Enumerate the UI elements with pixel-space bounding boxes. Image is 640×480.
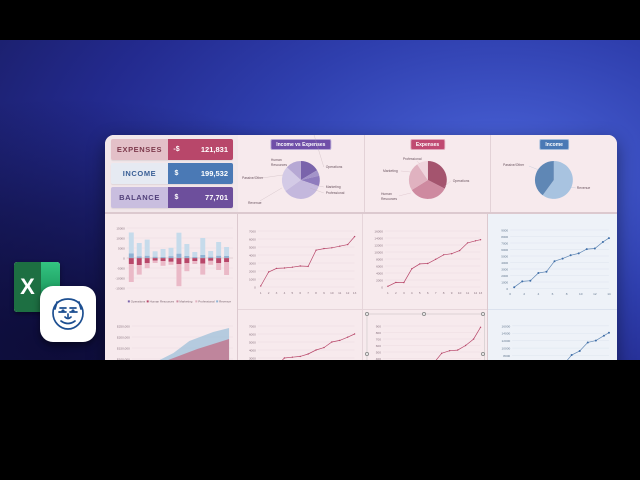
chart-human-resources-line[interactable]: Human Resources 7000600 [238,214,363,309]
svg-text:0: 0 [123,256,125,260]
svg-text:Marketing: Marketing [179,299,192,303]
svg-text:$150,000: $150,000 [117,346,130,350]
svg-text:1000: 1000 [501,281,508,285]
svg-text:8: 8 [442,291,444,295]
svg-text:16000: 16000 [374,229,383,233]
svg-text:1000: 1000 [249,277,256,281]
svg-text:14: 14 [607,292,611,296]
svg-text:10: 10 [579,292,583,296]
svg-text:1: 1 [387,291,389,295]
kpi-value-balance: 77,701 [185,187,233,208]
chart-revenue-line[interactable]: Revenue 1600014000 [488,309,617,360]
svg-text:2: 2 [268,291,270,295]
svg-text:5: 5 [418,291,420,295]
svg-text:-10000: -10000 [115,276,125,280]
svg-text:2000: 2000 [501,274,508,278]
svg-text:500: 500 [375,350,380,354]
kpi-sign-income: $ [168,163,185,184]
chart-overview-bars[interactable]: Overview 1500010000 50000 [105,214,237,309]
svg-text:10000: 10000 [374,250,383,254]
svg-text:0: 0 [254,285,256,289]
svg-text:14000: 14000 [374,236,383,240]
svg-text:3000: 3000 [249,261,256,265]
svg-text:2: 2 [395,291,397,295]
svg-text:-5000: -5000 [117,266,125,270]
svg-text:15000: 15000 [116,226,125,230]
svg-text:3000: 3000 [249,356,256,360]
svg-text:12: 12 [346,291,350,295]
kpi-row-income[interactable]: INCOME $ 199,532 [111,163,233,184]
svg-text:Human: Human [271,158,282,162]
kpi-value-income: 199,532 [185,163,233,184]
svg-text:Revenue: Revenue [248,201,262,205]
svg-text:8000: 8000 [503,354,510,358]
svg-text:0: 0 [509,292,511,296]
svg-text:Professional: Professional [326,191,345,195]
chart-cumulative-area[interactable]: Cumulative $250,000$200,000 $150,000$100… [105,309,237,360]
svg-text:4000: 4000 [249,348,256,352]
svg-text:7000: 7000 [501,242,508,246]
svg-text:7: 7 [434,291,436,295]
svg-text:Revenue: Revenue [577,186,591,190]
svg-text:16000: 16000 [502,324,511,328]
tiger-logo-icon [40,286,96,342]
selection-handle-top-left[interactable] [365,312,369,316]
app-icon-group: X [14,258,106,346]
svg-text:4: 4 [284,291,286,295]
svg-text:800: 800 [375,331,380,335]
svg-text:11: 11 [338,291,341,295]
svg-text:5000: 5000 [249,245,256,249]
kpi-row-expenses[interactable]: EXPENSES -$ 121,831 [111,139,233,160]
svg-text:13: 13 [353,291,357,295]
svg-text:7000: 7000 [249,324,256,328]
selection-handle-top-right[interactable] [481,312,485,316]
svg-text:8: 8 [315,291,317,295]
left-chart-column: Overview 1500010000 50000 [105,214,238,360]
middle-chart-column: Human Resources 7000600 [238,214,488,360]
kpi-label-income: INCOME [111,163,168,184]
svg-text:0: 0 [506,287,508,291]
svg-text:Professional: Professional [198,299,215,303]
svg-text:900: 900 [375,324,380,328]
excel-dashboard[interactable]: EXPENSES -$ 121,831 INCOME $ 199,532 BAL… [105,135,617,360]
chart-expenses-pie[interactable]: Expenses Operations Human Resources [364,135,491,212]
svg-text:10000: 10000 [116,236,125,240]
right-chart-column: Passive/Other 90008000 [488,214,617,360]
svg-text:7000: 7000 [249,229,256,233]
svg-text:400: 400 [375,357,380,360]
svg-text:4000: 4000 [376,271,383,275]
svg-text:2000: 2000 [376,278,383,282]
svg-text:4000: 4000 [249,253,256,257]
svg-text:2000: 2000 [249,269,256,273]
kpi-row-balance[interactable]: BALANCE $ 77,701 [111,187,233,208]
svg-text:6000: 6000 [249,332,256,336]
svg-text:600: 600 [375,344,380,348]
svg-text:9: 9 [323,291,325,295]
svg-text:6: 6 [552,292,554,296]
dashboard-top-band: EXPENSES -$ 121,831 INCOME $ 199,532 BAL… [105,135,617,212]
svg-text:$250,000: $250,000 [117,324,130,328]
svg-text:3: 3 [276,291,278,295]
svg-text:6000: 6000 [376,264,383,268]
svg-text:10: 10 [330,291,334,295]
svg-text:6000: 6000 [249,237,256,241]
svg-text:6: 6 [299,291,301,295]
svg-text:3000: 3000 [501,268,508,272]
svg-text:$100,000: $100,000 [117,357,130,360]
video-frame: X [0,40,640,360]
thumbnail-canvas: X [0,0,640,480]
svg-text:9: 9 [450,291,452,295]
svg-text:2: 2 [523,292,525,296]
svg-text:12: 12 [473,291,477,295]
kpi-column: EXPENSES -$ 121,831 INCOME $ 199,532 BAL… [105,135,238,212]
svg-text:5000: 5000 [249,340,256,344]
svg-text:8000: 8000 [376,257,383,261]
svg-text:Resources: Resources [271,163,287,167]
svg-text:Operations: Operations [326,165,343,169]
kpi-sign-expenses: -$ [168,139,185,160]
svg-text:11: 11 [465,291,468,295]
svg-text:3: 3 [402,291,404,295]
svg-text:4: 4 [410,291,412,295]
svg-text:Revenue: Revenue [219,299,231,303]
svg-text:Marketing: Marketing [383,169,398,173]
selection-handle-mid-left[interactable] [365,352,369,356]
kpi-label-balance: BALANCE [111,187,168,208]
svg-text:7: 7 [307,291,309,295]
svg-text:10000: 10000 [502,347,511,351]
svg-text:4: 4 [538,292,540,296]
svg-text:9000: 9000 [501,229,508,233]
dashboard-lower: Overview 1500010000 50000 [105,214,617,360]
svg-text:700: 700 [375,337,380,341]
chart-operations-line[interactable]: Operations 70006000 [238,310,363,360]
selection-handle-top-center[interactable] [422,312,426,316]
svg-text:Human: Human [381,192,392,196]
svg-text:14000: 14000 [502,332,511,336]
svg-text:5000: 5000 [501,255,508,259]
chart-marketing-line[interactable]: Marketing [363,214,488,309]
pie-chart-row: Income vs Expenses Operations [238,135,617,212]
svg-text:5: 5 [291,291,293,295]
selection-handle-mid-right[interactable] [481,352,485,356]
svg-text:6: 6 [426,291,428,295]
svg-text:Professional: Professional [403,157,422,161]
chart-income-pie[interactable]: Income Revenue Passive/Other [490,135,617,212]
chart-professional-line[interactable]: Professional [363,310,488,360]
svg-text:4000: 4000 [501,261,508,265]
step-by-step-ribbon: STEP BY STEP [0,40,168,93]
kpi-sign-balance: $ [168,187,185,208]
svg-text:12000: 12000 [374,243,383,247]
svg-text:Marketing: Marketing [326,185,341,189]
svg-text:Human Resources: Human Resources [150,299,175,303]
svg-text:10: 10 [457,291,461,295]
svg-text:Resources: Resources [381,197,397,201]
kpi-value-expenses: 121,831 [185,139,233,160]
svg-text:-15000: -15000 [115,286,125,290]
svg-text:12000: 12000 [502,339,511,343]
svg-text:8000: 8000 [501,235,508,239]
excel-icon-letter: X [14,262,41,312]
svg-text:Operations: Operations [131,299,146,303]
svg-text:6000: 6000 [501,248,508,252]
svg-text:Passive/Other: Passive/Other [503,163,525,167]
svg-text:8: 8 [566,292,568,296]
svg-text:0: 0 [381,285,383,289]
kpi-label-expenses: EXPENSES [111,139,168,160]
svg-text:Operations: Operations [452,179,469,183]
svg-text:$200,000: $200,000 [117,335,130,339]
svg-text:12: 12 [593,292,597,296]
svg-text:1: 1 [260,291,262,295]
svg-text:5000: 5000 [118,246,125,250]
chart-passive-other-line[interactable]: Passive/Other 90008000 [488,214,617,309]
chart-income-vs-expenses-pie[interactable]: Income vs Expenses Operations [238,135,364,212]
svg-text:Passive/Other: Passive/Other [242,176,264,180]
svg-text:13: 13 [478,291,482,295]
